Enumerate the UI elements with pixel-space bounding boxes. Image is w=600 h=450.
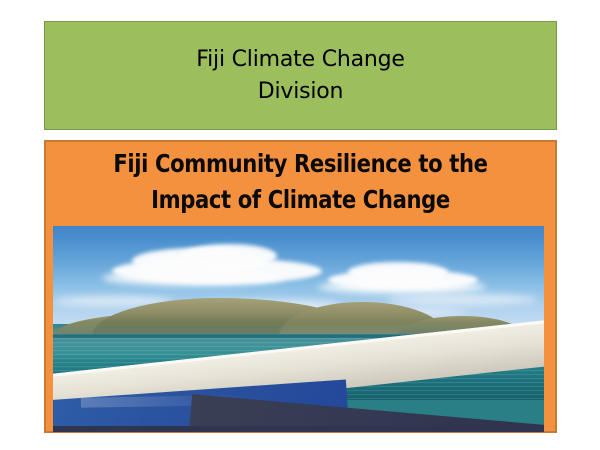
cloud-shape	[348, 262, 448, 282]
header-title-text: Fiji Climate Change Division	[196, 44, 404, 106]
coastal-island-seascape-photo	[53, 226, 544, 432]
body-content-box: Fiji Community Resilience to the Impact …	[44, 140, 557, 433]
photo-bottom-fill	[53, 426, 544, 432]
body-title-text: Fiji Community Resilience to the Impact …	[61, 146, 539, 217]
header-title-box: Fiji Climate Change Division	[44, 21, 557, 130]
cloud-shape	[181, 244, 277, 268]
presentation-slide: Fiji Climate Change Division Fiji Commun…	[0, 0, 600, 450]
